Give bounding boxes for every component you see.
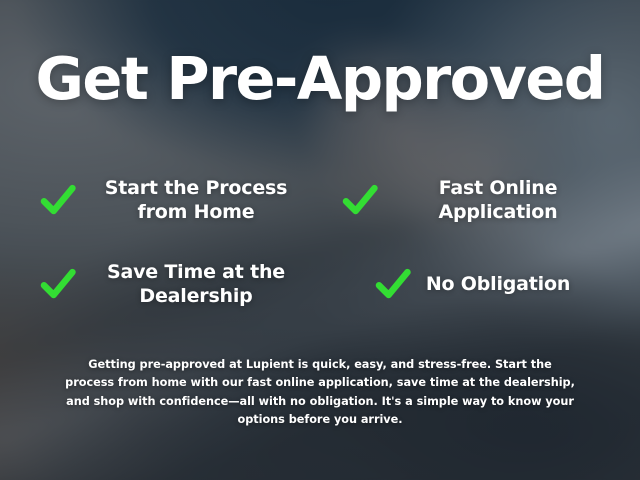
banner-content: Get Pre-Approved Start the Process from … — [0, 0, 640, 480]
description-paragraph: Getting pre-approved at Lupient is quick… — [62, 356, 578, 429]
pre-approval-banner: Get Pre-Approved Start the Process from … — [0, 0, 640, 480]
feature-item-start-process: Start the Process from Home — [18, 158, 320, 242]
check-icon — [37, 263, 79, 305]
feature-item-no-obligation: No Obligation — [320, 242, 622, 326]
feature-item-save-time: Save Time at the Dealership — [18, 242, 320, 326]
feature-label: Start the Process from Home — [91, 176, 301, 225]
check-icon — [372, 263, 414, 305]
feature-item-fast-online-application: Fast Online Application — [320, 158, 622, 242]
check-icon — [37, 179, 79, 221]
feature-label: Save Time at the Dealership — [91, 260, 301, 309]
page-title: Get Pre-Approved — [0, 49, 640, 108]
check-icon — [339, 179, 381, 221]
feature-label: No Obligation — [426, 272, 570, 296]
feature-label: Fast Online Application — [393, 176, 603, 225]
feature-list: Start the Process from Home Fast Online … — [18, 158, 622, 326]
